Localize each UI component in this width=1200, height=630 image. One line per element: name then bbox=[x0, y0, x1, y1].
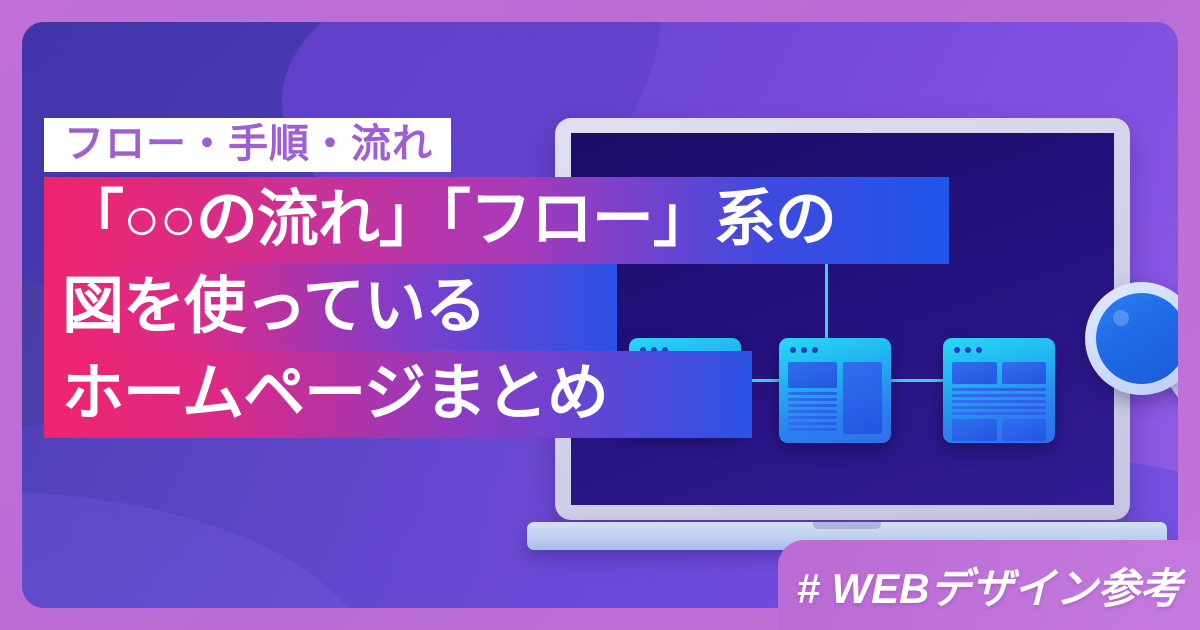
background-wave-bottom-left-secondary bbox=[22, 492, 372, 608]
magnifier-ring bbox=[1085, 282, 1178, 395]
laptop-trackpad-notch bbox=[813, 522, 881, 529]
page-title-line-3: ホームページまとめ bbox=[44, 351, 752, 438]
poster-frame: フロー・手順・流れ 「○○の流れ」「フロー」系の 図を使っている ホームページま… bbox=[0, 0, 1200, 630]
magnifier-glint bbox=[1113, 310, 1129, 326]
subtitle-band: フロー・手順・流れ bbox=[44, 118, 451, 172]
headline-stack: フロー・手順・流れ 「○○の流れ」「フロー」系の 図を使っている ホームページま… bbox=[44, 118, 1004, 438]
page-title-line-1: 「○○の流れ」「フロー」系の bbox=[44, 177, 949, 264]
content-block bbox=[1002, 419, 1047, 441]
content-block bbox=[1002, 362, 1047, 384]
magnifier-lens bbox=[1096, 293, 1178, 384]
page-title-line-2: 図を使っている bbox=[44, 264, 617, 351]
hashtag-label: # WEBデザイン参考 bbox=[796, 555, 1181, 616]
poster-card: フロー・手順・流れ 「○○の流れ」「フロー」系の 図を使っている ホームページま… bbox=[22, 22, 1178, 608]
subtitle-text: フロー・手順・流れ bbox=[64, 124, 433, 164]
hashtag-badge: # WEBデザイン参考 bbox=[778, 540, 1200, 630]
magnifying-glass-icon bbox=[1085, 282, 1178, 457]
